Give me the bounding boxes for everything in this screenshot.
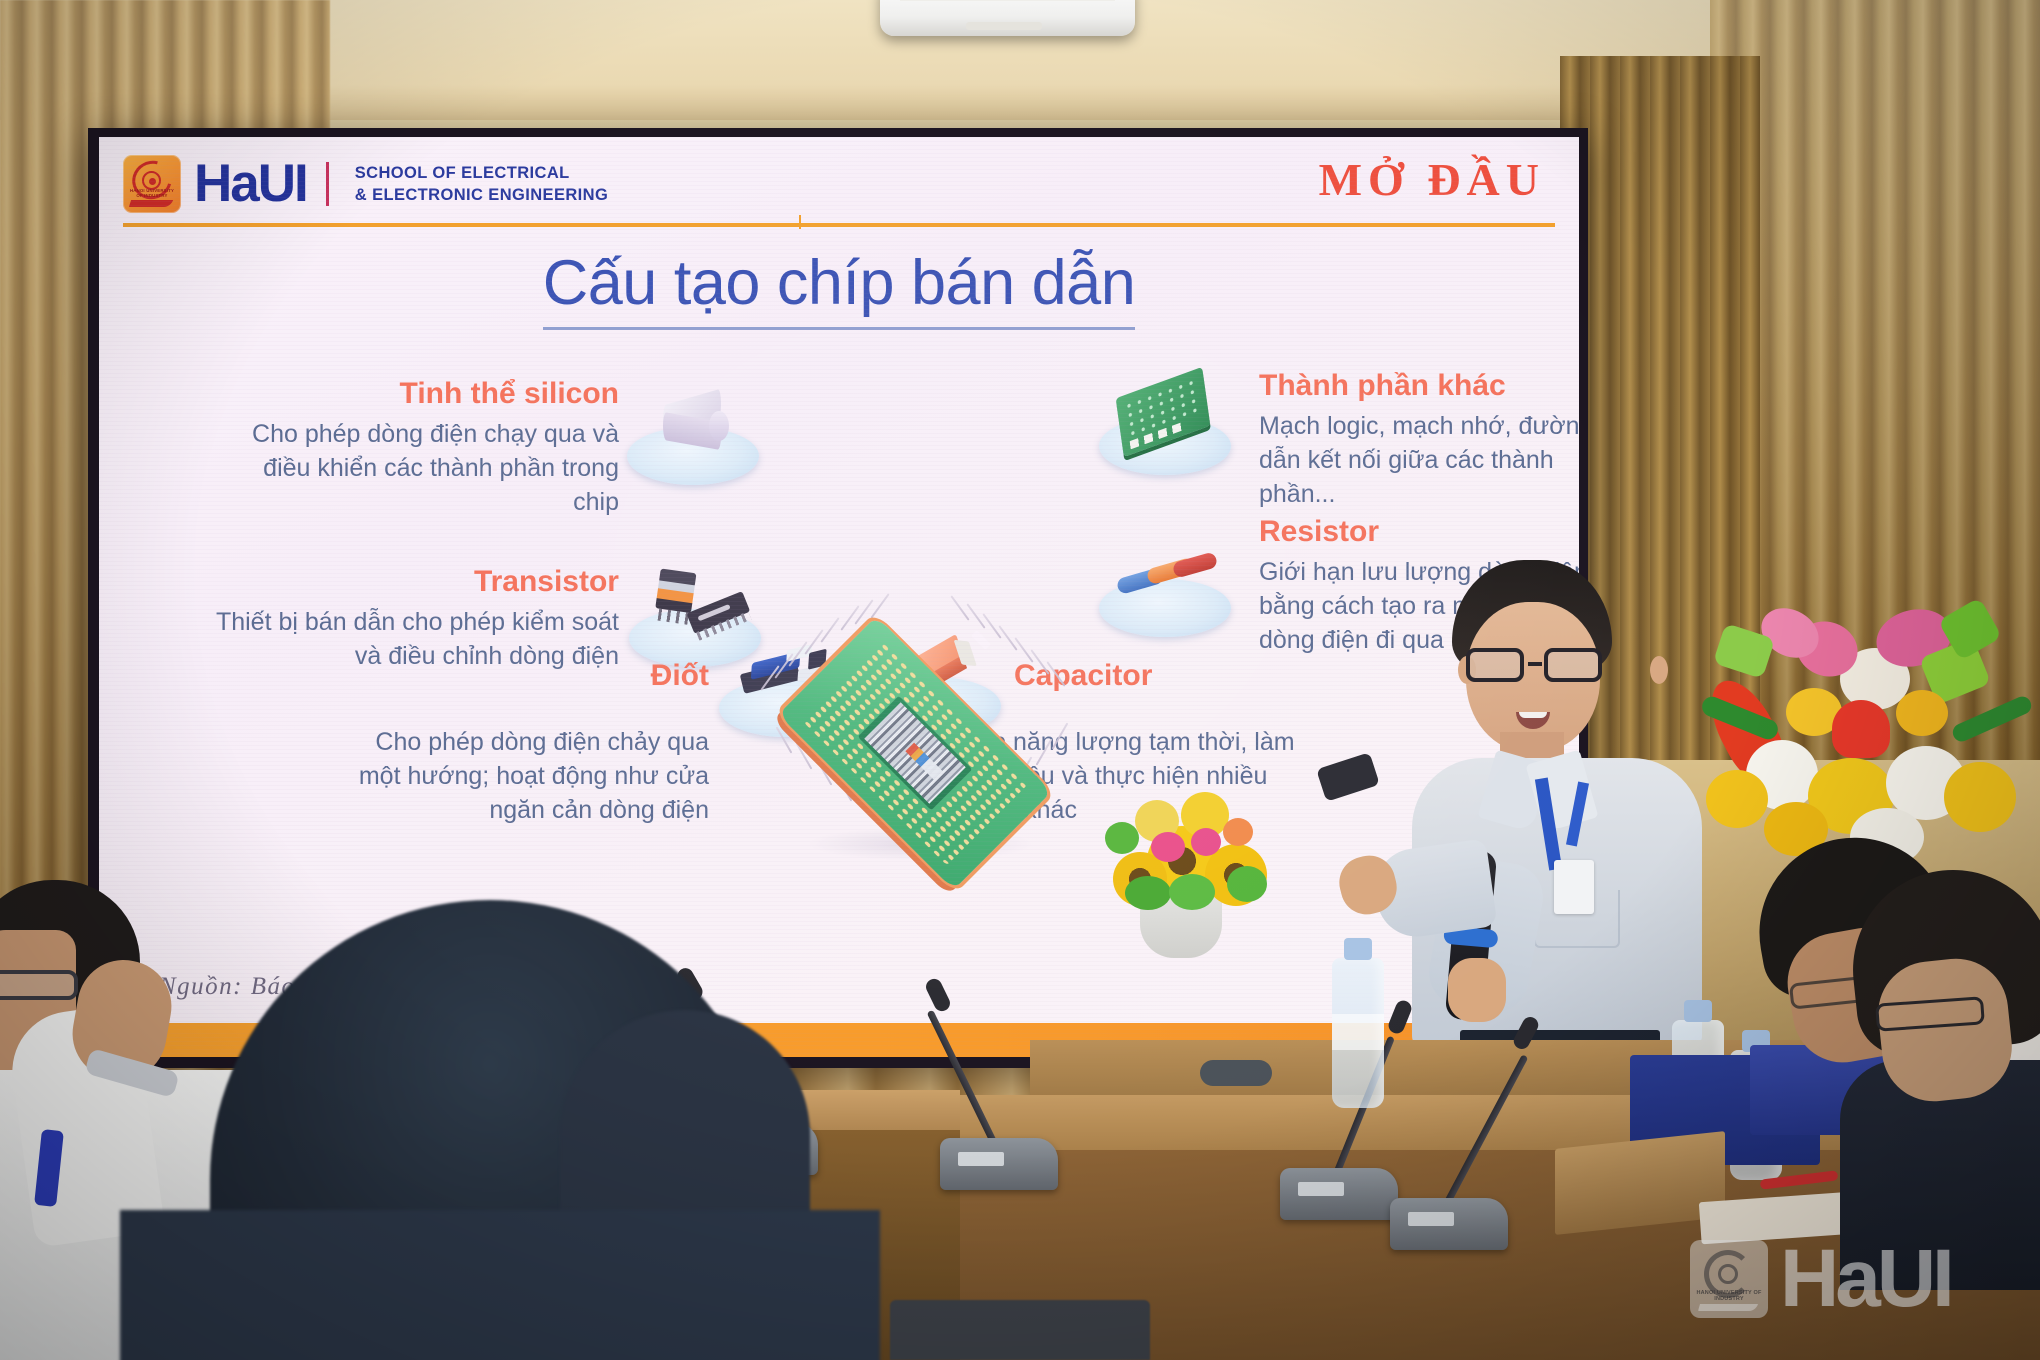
presenter-right-hand	[1448, 958, 1506, 1022]
presenter	[1390, 560, 1720, 1040]
school-name: SCHOOL OF ELECTRICAL & ELECTRONIC ENGINE…	[355, 162, 608, 207]
block-diode-heading-wrap: Điốt	[429, 659, 709, 699]
circuit-board-icon	[1099, 375, 1231, 479]
resistor-icon	[1099, 537, 1231, 641]
desk-microphone-body	[1200, 1060, 1272, 1086]
audience-foreground-shoulders	[120, 1210, 880, 1360]
block-diode-heading: Điốt	[429, 659, 709, 692]
logo-divider	[326, 162, 329, 206]
audience-member-glasses	[0, 970, 78, 1000]
block-resistor-heading: Resistor	[1259, 515, 1579, 548]
block-other-body: Mạch logic, mạch nhớ, đường dẫn kết nối …	[1259, 409, 1579, 511]
haui-watermark-emblem-icon: HANOI UNIVERSITY OF INDUSTRY	[1690, 1240, 1768, 1318]
block-transistor: Transistor Thiết bị bán dẫn cho phép kiể…	[209, 565, 619, 673]
block-other-heading: Thành phần khác	[1259, 369, 1579, 402]
cpu-chip-illustration	[759, 595, 1089, 895]
gooseneck-microphone	[940, 1020, 1070, 1190]
block-transistor-heading: Transistor	[209, 565, 619, 598]
block-diode-body-wrap: Cho phép dòng điện chảy qua một hướng; h…	[349, 725, 709, 827]
header-divider-rule	[123, 223, 1555, 227]
silicon-crystal-icon	[627, 385, 759, 489]
block-other-components: Thành phần khác Mạch logic, mạch nhớ, đư…	[1259, 369, 1579, 511]
slide-header: HANOI UNIVERSITY OF INDUSTRY HaUI SCHOOL…	[99, 137, 1579, 229]
haui-watermark-caption: HANOI UNIVERSITY OF INDUSTRY	[1693, 1290, 1765, 1302]
water-bottle	[1332, 958, 1384, 1108]
haui-emblem-caption: HANOI UNIVERSITY OF INDUSTRY	[127, 188, 177, 198]
haui-watermark: HANOI UNIVERSITY OF INDUSTRY HaUI	[1690, 1240, 1951, 1318]
haui-emblem-icon: HANOI UNIVERSITY OF INDUSTRY	[123, 155, 181, 213]
presentation-slide: HANOI UNIVERSITY OF INDUSTRY HaUI SCHOOL…	[99, 137, 1579, 1057]
laptop	[890, 1300, 1150, 1360]
slide-section-label: MỞ ĐẦU	[1319, 153, 1545, 206]
gooseneck-microphone	[1390, 1060, 1520, 1250]
haui-wordmark: HaUI	[194, 159, 307, 209]
school-name-line1: SCHOOL OF ELECTRICAL	[355, 162, 608, 184]
block-silicon: Tinh thể silicon Cho phép dòng điện chạy…	[219, 377, 619, 519]
slide-title: Cấu tạo chíp bán dẫn	[99, 247, 1579, 330]
haui-logo: HANOI UNIVERSITY OF INDUSTRY HaUI SCHOOL…	[123, 155, 608, 213]
block-silicon-heading: Tinh thể silicon	[219, 377, 619, 410]
slide-title-text: Cấu tạo chíp bán dẫn	[543, 247, 1135, 330]
haui-watermark-wordmark: HaUI	[1780, 1242, 1951, 1316]
school-name-line2: & ELECTRONIC ENGINEERING	[355, 184, 608, 206]
projector-ports	[900, 0, 1115, 1]
ceiling-projector	[880, 0, 1135, 36]
block-silicon-body: Cho phép dòng điện chạy qua và điều khiể…	[219, 417, 619, 519]
projector-lens	[966, 22, 1042, 30]
flower-arrangement	[1700, 590, 2030, 870]
block-diode-body: Cho phép dòng điện chảy qua một hướng; h…	[349, 725, 709, 827]
table-flower-bouquet	[1095, 770, 1295, 930]
presenter-glasses	[1460, 648, 1608, 684]
projection-screen: HANOI UNIVERSITY OF INDUSTRY HaUI SCHOOL…	[88, 128, 1588, 1068]
screenshot-root: HANOI UNIVERSITY OF INDUSTRY HaUI SCHOOL…	[0, 0, 2040, 1360]
